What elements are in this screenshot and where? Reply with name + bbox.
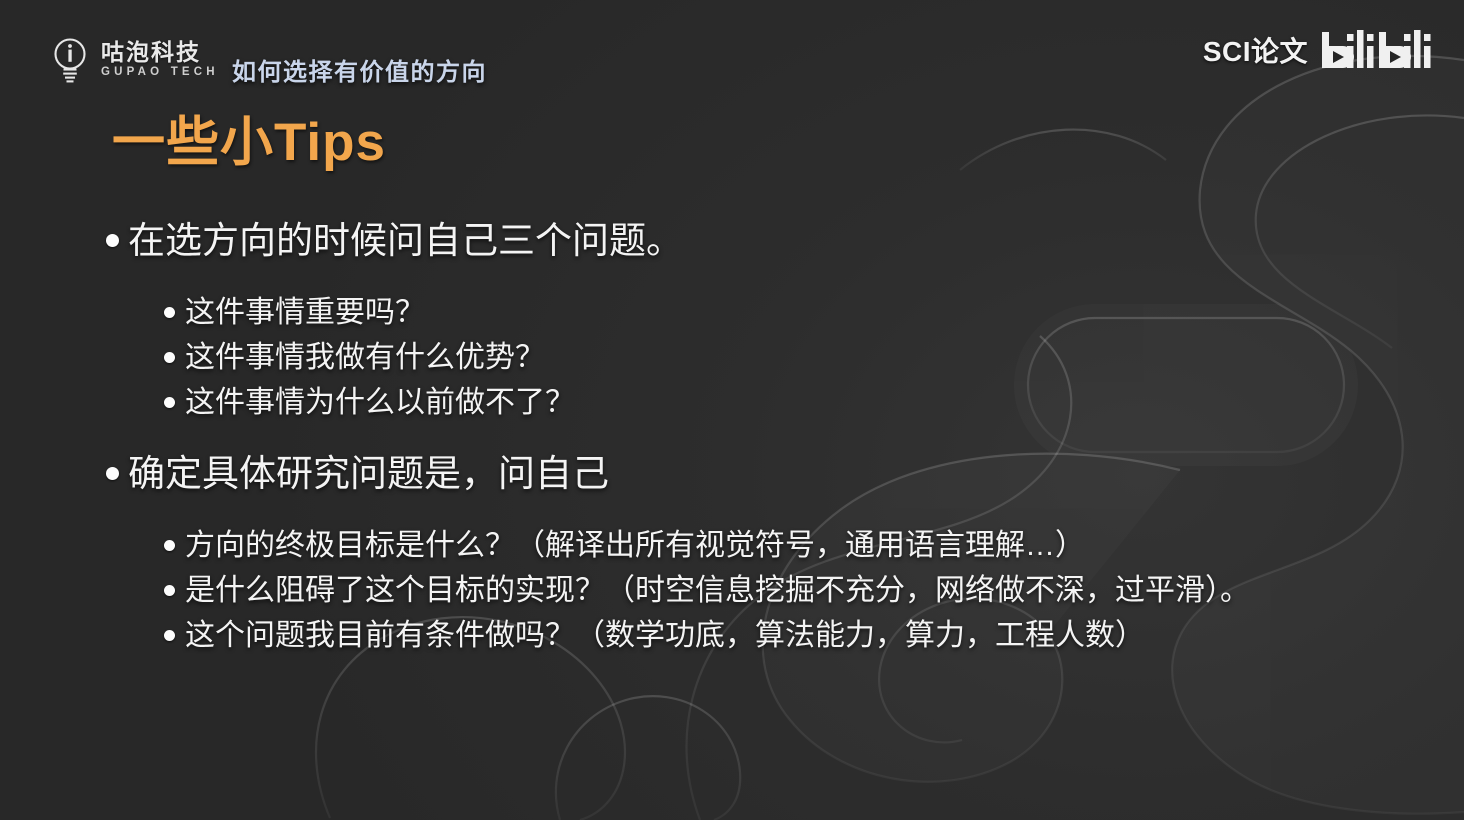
header-subtitle: 如何选择有价值的方向 xyxy=(232,52,487,87)
bullet-dot-icon xyxy=(164,307,175,318)
list-item: 这个问题我目前有条件做吗？（数学功底，算法能力，算力，工程人数） xyxy=(164,613,1424,658)
list-item: 确定具体研究问题是，问自己 xyxy=(106,447,1424,501)
page-title: 一些小Tips xyxy=(112,114,386,172)
list-item: 这件事情我做有什么优势？ xyxy=(164,335,1424,380)
bullet-text: 在选方向的时候问自己三个问题。 xyxy=(128,214,683,268)
presentation-slide: 咕泡科技 GUPAO TECH 如何选择有价值的方向 SCI论文 xyxy=(0,0,1464,820)
bullet-text: 这件事情我做有什么优势？ xyxy=(185,335,545,380)
bullet-dot-icon xyxy=(164,630,175,641)
bullet-text: 这件事情为什么以前做不了？ xyxy=(185,380,575,425)
watermark-text: SCI论文 xyxy=(1203,30,1308,70)
brand-text: 咕泡科技 GUPAO TECH xyxy=(101,41,219,79)
list-item: 这件事情重要吗？ xyxy=(164,290,1424,335)
bullet-dot-icon xyxy=(106,234,119,247)
spacer xyxy=(106,276,1424,290)
list-item: 这件事情为什么以前做不了？ xyxy=(164,380,1424,425)
bullet-text: 确定具体研究问题是，问自己 xyxy=(128,447,609,501)
bullet-dot-icon xyxy=(164,352,175,363)
spacer xyxy=(106,425,1424,447)
slide-content: 在选方向的时候问自己三个问题。 这件事情重要吗？ 这件事情我做有什么优势？ 这件… xyxy=(106,214,1424,658)
slide-header: 咕泡科技 GUPAO TECH 如何选择有价值的方向 SCI论文 xyxy=(0,0,1464,104)
bullet-dot-icon xyxy=(164,585,175,596)
list-item: 方向的终极目标是什么？（解译出所有视觉符号，通用语言理解…） xyxy=(164,523,1424,568)
bullet-text: 这件事情重要吗？ xyxy=(185,290,425,335)
list-item: 在选方向的时候问自己三个问题。 xyxy=(106,214,1424,268)
bullet-dot-icon xyxy=(106,467,119,480)
bullet-text: 这个问题我目前有条件做吗？（数学功底，算法能力，算力，工程人数） xyxy=(185,613,1145,658)
brand-name-cn: 咕泡科技 xyxy=(101,41,219,64)
bullet-dot-icon xyxy=(164,397,175,408)
brand-logo: 咕泡科技 GUPAO TECH xyxy=(50,36,219,84)
bullet-dot-icon xyxy=(164,540,175,551)
bilibili-logo xyxy=(1320,28,1438,72)
bullet-text: 是什么阻碍了这个目标的实现？（时空信息挖掘不充分，网络做不深，过平滑）。 xyxy=(185,568,1250,613)
watermark: SCI论文 xyxy=(1203,28,1438,72)
spacer xyxy=(106,509,1424,523)
list-item: 是什么阻碍了这个目标的实现？（时空信息挖掘不充分，网络做不深，过平滑）。 xyxy=(164,568,1424,613)
bullet-text: 方向的终极目标是什么？（解译出所有视觉符号，通用语言理解…） xyxy=(185,523,1085,568)
brand-name-en: GUPAO TECH xyxy=(101,67,219,79)
lightbulb-icon xyxy=(50,36,90,84)
